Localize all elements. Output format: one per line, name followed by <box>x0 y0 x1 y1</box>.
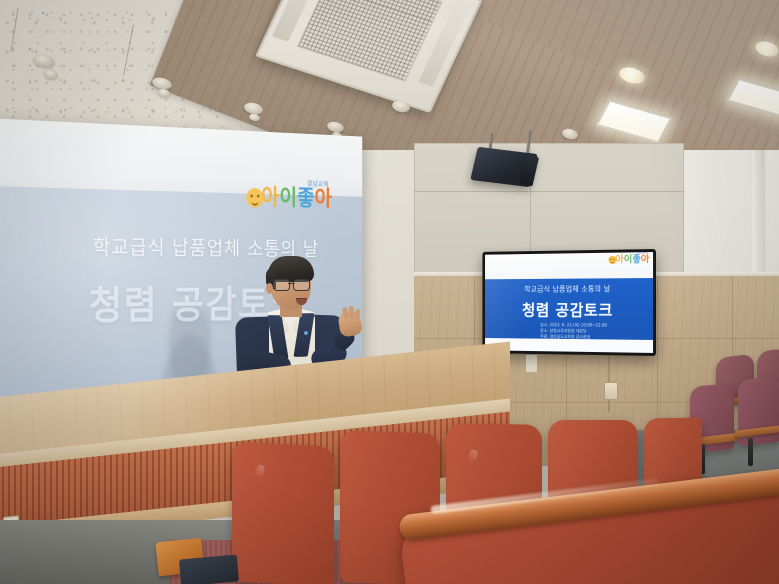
mouth <box>296 298 307 305</box>
wall-mounted-tv: 경남교육 아이좋아 학교급식 납품업체 소통의 날 청렴 공감토크 일시. 20… <box>482 249 656 356</box>
ear <box>266 283 273 294</box>
ac-grille <box>297 0 443 82</box>
slide-logo-char-1: 아 <box>261 185 279 207</box>
slide-logo-smiley-icon <box>247 187 264 207</box>
slide-logo-char-3: 좋 <box>297 186 315 208</box>
tv-slide-details: 일시. 2023. 6. 22.(목) 10:00~12:00 장소. 창원교육… <box>540 322 607 340</box>
tv-logo-char-4: 아 <box>641 254 650 264</box>
tv-logo-small-text: 경남교육 <box>637 252 648 255</box>
slide-logo: 경남교육 아이좋아 <box>247 185 332 209</box>
tv-screen: 경남교육 아이좋아 학교급식 납품업체 소통의 날 청렴 공감토크 일시. 20… <box>485 252 653 353</box>
seat-base-bracket <box>179 555 239 584</box>
tv-logo-smiley-icon <box>608 256 616 264</box>
seat-scuff-mark <box>467 448 478 462</box>
auditorium-seat <box>232 441 334 584</box>
tv-detail-line: 주관. 경상남도교육청 감사관실 <box>540 334 607 341</box>
seat-scuff-mark <box>255 464 266 478</box>
wall-outlet <box>604 382 618 400</box>
tv-slide-logo: 경남교육 아이좋아 <box>608 254 649 264</box>
tv-slide-subtitle: 학교급식 납품업체 소통의 날 <box>485 283 653 294</box>
speaker-led-indicator <box>42 12 44 14</box>
slide-logo-char-2: 이 <box>279 186 297 208</box>
finger <box>349 306 355 319</box>
ceiling-speaker-icon <box>470 147 538 187</box>
tv-logo-char-3: 좋 <box>632 254 641 264</box>
glasses-icon <box>273 279 310 290</box>
tv-slide-title: 청렴 공감토크 <box>485 297 653 321</box>
lapel-pin <box>304 331 308 335</box>
tv-logo-char-2: 이 <box>623 254 632 264</box>
slide-logo-small-text: 경남교육 <box>307 179 329 189</box>
tv-slide-footer-band <box>485 338 653 353</box>
wall-corner-column <box>752 150 764 290</box>
auditorium-photo: 경남교육 아이좋아 학교급식 납품업체 소통의 날 청렴 공감토크 경남교육 아… <box>0 0 779 584</box>
seat-leg <box>748 438 753 466</box>
wall-outlet <box>525 354 538 373</box>
slide-logo-char-4: 아 <box>315 187 332 209</box>
